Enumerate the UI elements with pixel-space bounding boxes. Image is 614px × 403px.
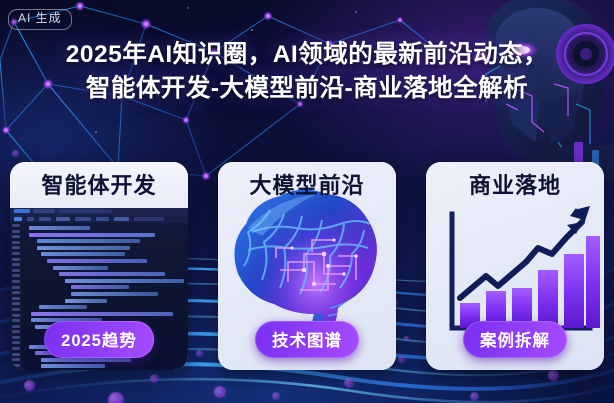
card-pill-button[interactable]: 案例拆解 (463, 321, 567, 358)
card-heading: 大模型前沿 (249, 174, 364, 198)
page-title: 2025年AI知识圈，AI领域的最新前沿动态， 智能体开发-大模型前沿-商业落地… (0, 38, 614, 106)
poster-canvas: AI 生成 2025年AI知识圈，AI领域的最新前沿动态， 智能体开发-大模型前… (0, 0, 614, 403)
card-pill-button[interactable]: 2025趋势 (44, 321, 154, 358)
card-pill-button[interactable]: 技术图谱 (255, 321, 359, 358)
feature-card-agent-dev[interactable]: 智能体开发 2025趋势 (10, 162, 188, 370)
title-line-1: 2025年AI知识圈，AI领域的最新前沿动态， (66, 41, 549, 68)
card-heading: 智能体开发 (41, 174, 156, 198)
feature-card-llm-frontier[interactable]: 大模型前沿 技术图谱 (218, 162, 396, 370)
feature-card-commercialization[interactable]: 商业落地 案例拆解 (426, 162, 604, 370)
card-heading: 商业落地 (469, 174, 561, 198)
ai-generated-badge: AI 生成 (8, 9, 72, 30)
feature-card-list: 智能体开发 2025趋势 (0, 162, 614, 370)
title-line-2: 智能体开发-大模型前沿-商业落地全解析 (14, 72, 600, 106)
